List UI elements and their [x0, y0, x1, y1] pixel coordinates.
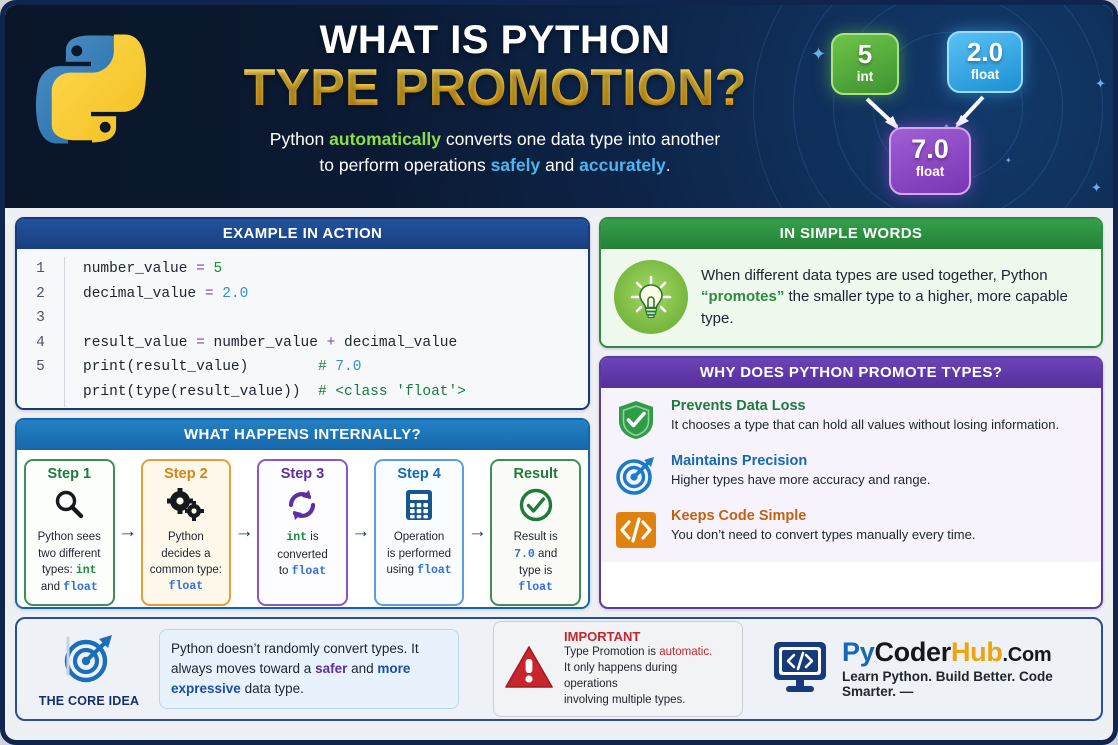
- step-3-title: Step 3: [281, 466, 325, 482]
- step-4-line1: Operation: [386, 529, 451, 545]
- why-desc-3: You don’t need to convert types manually…: [671, 526, 975, 544]
- step-2-line3: common type:: [150, 562, 222, 578]
- badge-float: 2.0 float: [947, 31, 1023, 93]
- panel-why-promote-types: WHY DOES PYTHON PROMOTE TYPES?: [599, 356, 1103, 609]
- refresh-icon: [284, 484, 320, 526]
- gears-icon: [166, 484, 206, 526]
- step-3-desc: int is converted to float: [277, 529, 328, 580]
- subtitle-text-e: .: [666, 155, 671, 175]
- step-4-line3: using: [386, 564, 417, 576]
- simple-words-text: When different data types are used toget…: [701, 265, 1087, 329]
- title-line-2: TYPE PROMOTION?: [165, 61, 825, 116]
- brand-hub: Hub: [951, 637, 1003, 667]
- code-block: 1 2 3 4 5 number_value = 5decimal_value …: [17, 249, 588, 410]
- title-line-1: WHAT IS PYTHON: [165, 19, 825, 61]
- step-1-line3: types:: [42, 564, 76, 576]
- step-result-line2: and: [535, 548, 557, 560]
- important-note: IMPORTANT Type Promotion is automatic. I…: [493, 621, 743, 716]
- subtitle-text-a: Python: [270, 129, 329, 149]
- steps-row: Step 1 Python sees two different types: …: [17, 450, 588, 609]
- important-title: IMPORTANT: [564, 629, 732, 645]
- step-3-line1: is: [307, 531, 319, 543]
- why-title-1: Prevents Data Loss: [671, 397, 1059, 415]
- important-line1-highlight: automatic.: [659, 646, 712, 658]
- calculator-icon: [403, 484, 435, 526]
- step-3-line2: converted: [277, 547, 328, 563]
- badge-float-type: float: [949, 66, 1021, 85]
- step-2-mono-float: float: [169, 580, 204, 593]
- subtitle-highlight-accurately: accurately: [579, 155, 666, 175]
- core-idea-label: THE CORE IDEA: [39, 694, 140, 708]
- why-row-keeps-code-simple: Keeps Code Simple You don’t need to conv…: [613, 507, 1091, 553]
- important-line3: involving multiple types.: [564, 693, 732, 709]
- brand-coder: Coder: [874, 637, 951, 667]
- badge-int-value: 5: [833, 41, 897, 68]
- why-heading: WHY DOES PYTHON PROMOTE TYPES?: [601, 358, 1101, 388]
- footer-bar: THE CORE IDEA Python doesn’t randomly co…: [15, 617, 1103, 721]
- lightbulb-icon: [614, 260, 688, 334]
- code-gutter: 1 2 3 4 5: [17, 257, 65, 407]
- brand-slogan: Learn Python. Build Better. Code Smarter…: [842, 669, 1089, 699]
- core-idea-note: Python doesn’t randomly convert types. I…: [159, 629, 459, 708]
- step-2-line2: decides a: [150, 546, 222, 562]
- step-1-line4: and: [41, 581, 63, 593]
- step-result-title: Result: [514, 466, 558, 482]
- step-1-line1: Python sees: [38, 529, 101, 545]
- step-3-line3: to: [279, 565, 292, 577]
- step-result: Result Result is 7.0 and type is float: [490, 459, 581, 605]
- step-4-mono-float: float: [417, 564, 452, 577]
- badge-result-value: 7.0: [891, 135, 969, 163]
- step-2: Step 2: [141, 459, 232, 605]
- subtitle-text-b: converts one data type into another: [441, 129, 720, 149]
- code-monitor-icon: [771, 640, 829, 699]
- step-3-mono-float: float: [292, 565, 327, 578]
- why-desc-1: It chooses a type that can hold all valu…: [671, 416, 1059, 434]
- step-arrow-icon: →: [115, 459, 141, 605]
- subtitle-text-c: to perform operations: [319, 155, 490, 175]
- badge-int-type: int: [833, 68, 897, 87]
- step-result-desc: Result is 7.0 and type is float: [514, 529, 558, 596]
- important-desc: Type Promotion is automatic. It only hap…: [564, 645, 732, 708]
- subtitle-highlight-safely: safely: [491, 155, 541, 175]
- line-number: 5: [17, 355, 64, 380]
- line-number: 1: [17, 257, 64, 282]
- why-row-maintains-precision: Maintains Precision Higher types have mo…: [613, 452, 1091, 498]
- check-circle-icon: [518, 484, 554, 526]
- simple-text-highlight: “promotes”: [701, 288, 784, 305]
- brand-py: Py: [842, 637, 874, 667]
- core-idea-block: THE CORE IDEA: [29, 631, 149, 708]
- panel-example-in-action: EXAMPLE IN ACTION 1 2 3 4 5 number_value…: [15, 217, 590, 410]
- brand-block[interactable]: PyCoderHub.Com Learn Python. Build Bette…: [753, 639, 1089, 699]
- code-line: print(result_value) # 7.0: [83, 355, 466, 380]
- magnifier-icon: [52, 484, 86, 526]
- step-3-mono-int: int: [286, 531, 307, 544]
- panel-in-simple-words: IN SIMPLE WORDS: [599, 217, 1103, 348]
- python-logo-icon: [31, 29, 151, 149]
- core-note-safer: safer: [315, 661, 347, 676]
- left-column: EXAMPLE IN ACTION 1 2 3 4 5 number_value…: [15, 217, 590, 609]
- step-1-title: Step 1: [48, 466, 92, 482]
- core-note-b: and: [347, 661, 377, 676]
- example-heading: EXAMPLE IN ACTION: [17, 219, 588, 249]
- line-number: 3: [17, 306, 64, 331]
- step-4-desc: Operation is performed using float: [386, 529, 451, 579]
- step-4-line2: is performed: [386, 546, 451, 562]
- step-1-line2: two different: [38, 546, 101, 562]
- step-arrow-icon: →: [348, 459, 374, 605]
- why-desc-2: Higher types have more accuracy and rang…: [671, 471, 930, 489]
- subtitle-highlight-automatically: automatically: [329, 129, 441, 149]
- right-column: IN SIMPLE WORDS: [599, 217, 1103, 609]
- promotion-diagram: 5 int 2.0 float 7.0 float: [795, 23, 1095, 198]
- subtitle-text-d: and: [540, 155, 579, 175]
- line-number: 4: [17, 331, 64, 356]
- important-line1-a: Type Promotion is: [564, 646, 659, 658]
- simple-text-a: When different data types are used toget…: [701, 267, 1048, 284]
- why-title-3: Keeps Code Simple: [671, 507, 975, 525]
- badge-float-value: 2.0: [949, 39, 1021, 66]
- brand-com: .Com: [1003, 644, 1052, 666]
- step-1: Step 1 Python sees two different types: …: [24, 459, 115, 605]
- target-arrow-icon: [613, 452, 659, 498]
- step-1-desc: Python sees two different types: int and…: [38, 529, 101, 596]
- panel-what-happens-internally: WHAT HAPPENS INTERNALLY? Step 1 Python s…: [15, 418, 590, 609]
- internal-heading: WHAT HAPPENS INTERNALLY?: [17, 420, 588, 450]
- step-result-mono-float: float: [518, 581, 553, 594]
- code-line: [83, 306, 466, 331]
- why-row-prevents-data-loss: Prevents Data Loss It chooses a type tha…: [613, 397, 1091, 443]
- code-text: number_value = 5decimal_value = 2.0 resu…: [65, 257, 466, 407]
- simple-heading: IN SIMPLE WORDS: [601, 219, 1101, 249]
- code-brackets-icon: [613, 507, 659, 553]
- step-result-line1: Result is: [514, 529, 558, 545]
- code-line: decimal_value = 2.0: [83, 282, 466, 307]
- header-banner: ✦ ✦ ✦ ✦ ✦ WHAT IS PYTHON TYPE PROMOTION?: [5, 5, 1113, 208]
- why-title-2: Maintains Precision: [671, 452, 930, 470]
- step-1-mono-float: float: [63, 581, 98, 594]
- step-2-title: Step 2: [164, 466, 208, 482]
- step-result-line3: type is: [514, 563, 558, 579]
- header-subtitle: Python automatically converts one data t…: [165, 126, 825, 179]
- step-4: Step 4: [374, 459, 465, 605]
- shield-check-icon: [613, 397, 659, 443]
- code-line: print(type(result_value)) # <class 'floa…: [83, 380, 466, 405]
- line-number: 2: [17, 282, 64, 307]
- sparkle-icon: ✦: [1095, 77, 1106, 90]
- target-arrow-icon: [58, 631, 120, 692]
- header-title-block: WHAT IS PYTHON TYPE PROMOTION? Python au…: [165, 19, 825, 178]
- code-line: number_value = 5: [83, 257, 466, 282]
- badge-result-type: float: [891, 163, 969, 182]
- infographic-poster: ✦ ✦ ✦ ✦ ✦ WHAT IS PYTHON TYPE PROMOTION?: [0, 0, 1118, 745]
- step-2-desc: Python decides a common type: float: [150, 529, 222, 595]
- important-line2: It only happens during operations: [564, 661, 732, 693]
- step-1-mono-int: int: [76, 564, 97, 577]
- step-result-mono-num: 7.0: [514, 548, 535, 561]
- step-4-title: Step 4: [397, 466, 441, 482]
- step-arrow-icon: →: [231, 459, 257, 605]
- step-3: Step 3 int is: [257, 459, 348, 605]
- brand-name: PyCoderHub.Com: [842, 639, 1089, 666]
- badge-result: 7.0 float: [889, 127, 971, 195]
- badge-int: 5 int: [831, 33, 899, 95]
- core-note-c: data type.: [241, 681, 304, 696]
- warning-triangle-icon: [504, 644, 554, 695]
- step-2-line1: Python: [150, 529, 222, 545]
- content-area: EXAMPLE IN ACTION 1 2 3 4 5 number_value…: [5, 208, 1113, 740]
- code-line: result_value = number_value + decimal_va…: [83, 331, 466, 356]
- step-arrow-icon: →: [464, 459, 490, 605]
